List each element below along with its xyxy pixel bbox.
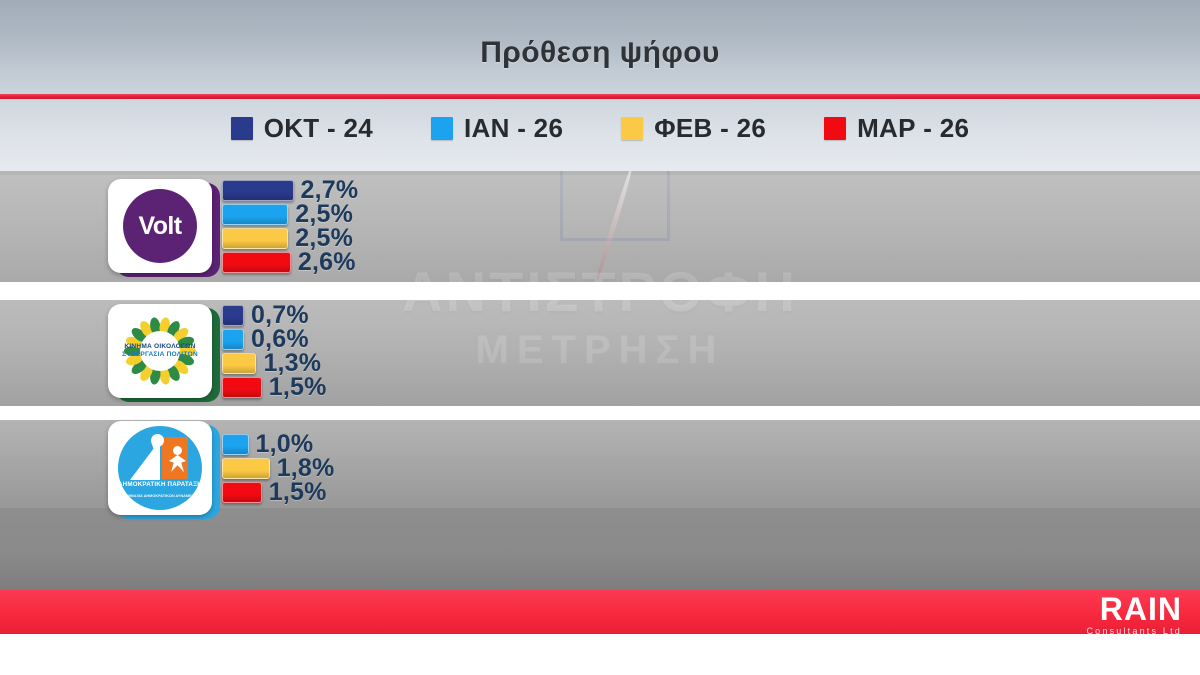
bar-value-label: 2,6% [298,248,356,277]
legend-item-ian26: ΙΑΝ - 26 [431,113,563,144]
party-row: ΔΗΜΟΚΡΑΤΙΚΗ ΠΑΡΑΤΑΞΗΣΥΜΜΑΧΙΑ ΔΗΜΟΚΡΑΤΙΚΩ… [108,421,334,515]
legend-label: ΙΑΝ - 26 [464,113,563,144]
legend: ΟΚΤ - 24ΙΑΝ - 26ΦΕΒ - 26ΜΑΡ - 26 [0,113,1200,144]
party-bars: 1,0%1,8%1,5% [222,433,334,503]
legend-label: ΟΚΤ - 24 [264,113,373,144]
bar-line: 0,6% [222,328,327,350]
volt-logo-text: Volt [139,212,182,241]
bar-line: 0,7% [222,304,327,326]
bar-ΟΚΤ-24 [222,305,244,326]
bar-ΜΑΡ-26 [222,377,262,398]
bar-ΙΑΝ-26 [222,434,249,455]
party-bars: 2,7%2,5%2,5%2,6% [222,179,358,273]
bar-line: 1,0% [222,433,334,455]
bar-ΟΚΤ-24 [222,180,294,201]
oikologon-line-1: ΚΙΝΗΜΑ ΟΙΚΟΛΟΓΩΝ [122,343,198,351]
legend-swatch-icon [431,117,453,140]
party-logo-card: ΚΙΝΗΜΑ ΟΙΚΟΛΟΓΩΝΣΥΝΕΡΓΑΣΙΑ ΠΟΛΙΤΩΝ [108,304,212,398]
bar-line: 1,5% [222,376,327,398]
legend-item-fev26: ΦΕΒ - 26 [621,113,766,144]
row-divider-2 [0,406,1200,420]
footer-white-space [0,634,1200,675]
bar-line: 2,7% [222,179,358,201]
dp-figure-head-icon [173,446,182,455]
title-bar: Πρόθεση ψήφου [0,0,1200,97]
bar-ΜΑΡ-26 [222,252,291,273]
page-title: Πρόθεση ψήφου [0,36,1200,70]
oikologon-logo-icon: ΚΙΝΗΜΑ ΟΙΚΟΛΟΓΩΝΣΥΝΕΡΓΑΣΙΑ ΠΟΛΙΤΩΝ [114,310,206,392]
legend-swatch-icon [621,117,643,140]
bar-ΦΕΒ-26 [222,228,288,249]
party-logo-card: Volt [108,179,212,273]
legend-item-okt24: ΟΚΤ - 24 [231,113,373,144]
rain-brand-text: RAIN [1086,593,1182,625]
bar-ΙΑΝ-26 [222,204,288,225]
bar-line: 1,3% [222,352,327,374]
dp-logo-text: ΔΗΜΟΚΡΑΤΙΚΗ ΠΑΡΑΤΑΞΗ [118,481,202,488]
legend-label: ΦΕΒ - 26 [654,113,766,144]
legend-label: ΜΑΡ - 26 [857,113,969,144]
party-bars: 0,7%0,6%1,3%1,5% [222,304,327,398]
bar-value-label: 1,5% [269,373,327,402]
footer-bar [0,590,1200,634]
broadcast-poll-graphic: Πρόθεση ψήφου ΟΚΤ - 24ΙΑΝ - 26ΦΕΒ - 26ΜΑ… [0,0,1200,675]
bar-ΜΑΡ-26 [222,482,262,503]
rain-logo: RAIN Consultants Ltd [1086,593,1182,636]
legend-bar: ΟΚΤ - 24ΙΑΝ - 26ΦΕΒ - 26ΜΑΡ - 26 [0,99,1200,171]
legend-item-mar26: ΜΑΡ - 26 [824,113,969,144]
oikologon-line-2: ΣΥΝΕΡΓΑΣΙΑ ΠΟΛΙΤΩΝ [122,351,198,359]
legend-swatch-icon [231,117,253,140]
bar-ΙΑΝ-26 [222,329,244,350]
volt-logo-icon: Volt [123,189,197,263]
bar-line: 2,5% [222,227,358,249]
bar-ΦΕΒ-26 [222,353,256,374]
bar-line: 1,8% [222,457,334,479]
bar-ΦΕΒ-26 [222,458,270,479]
oikologon-logo-text: ΚΙΝΗΜΑ ΟΙΚΟΛΟΓΩΝΣΥΝΕΡΓΑΣΙΑ ΠΟΛΙΤΩΝ [122,343,198,359]
bar-line: 2,6% [222,251,358,273]
bar-line: 2,5% [222,203,358,225]
party-logo-card: ΔΗΜΟΚΡΑΤΙΚΗ ΠΑΡΑΤΑΞΗΣΥΜΜΑΧΙΑ ΔΗΜΟΚΡΑΤΙΚΩ… [108,421,212,515]
party-row: Volt2,7%2,5%2,5%2,6% [108,179,358,273]
dimokratiki-parataxi-logo-icon: ΔΗΜΟΚΡΑΤΙΚΗ ΠΑΡΑΤΑΞΗΣΥΜΜΑΧΙΑ ΔΗΜΟΚΡΑΤΙΚΩ… [118,426,202,510]
dp-logo-subtext: ΣΥΜΜΑΧΙΑ ΔΗΜΟΚΡΑΤΙΚΩΝ ΔΥΝΑΜΕΩΝ [118,494,202,499]
legend-swatch-icon [824,117,846,140]
row-divider-1 [0,282,1200,300]
party-row: ΚΙΝΗΜΑ ΟΙΚΟΛΟΓΩΝΣΥΝΕΡΓΑΣΙΑ ΠΟΛΙΤΩΝ0,7%0,… [108,304,327,398]
bar-value-label: 1,5% [269,478,327,507]
lower-strip [0,508,1200,590]
bar-line: 1,5% [222,481,334,503]
